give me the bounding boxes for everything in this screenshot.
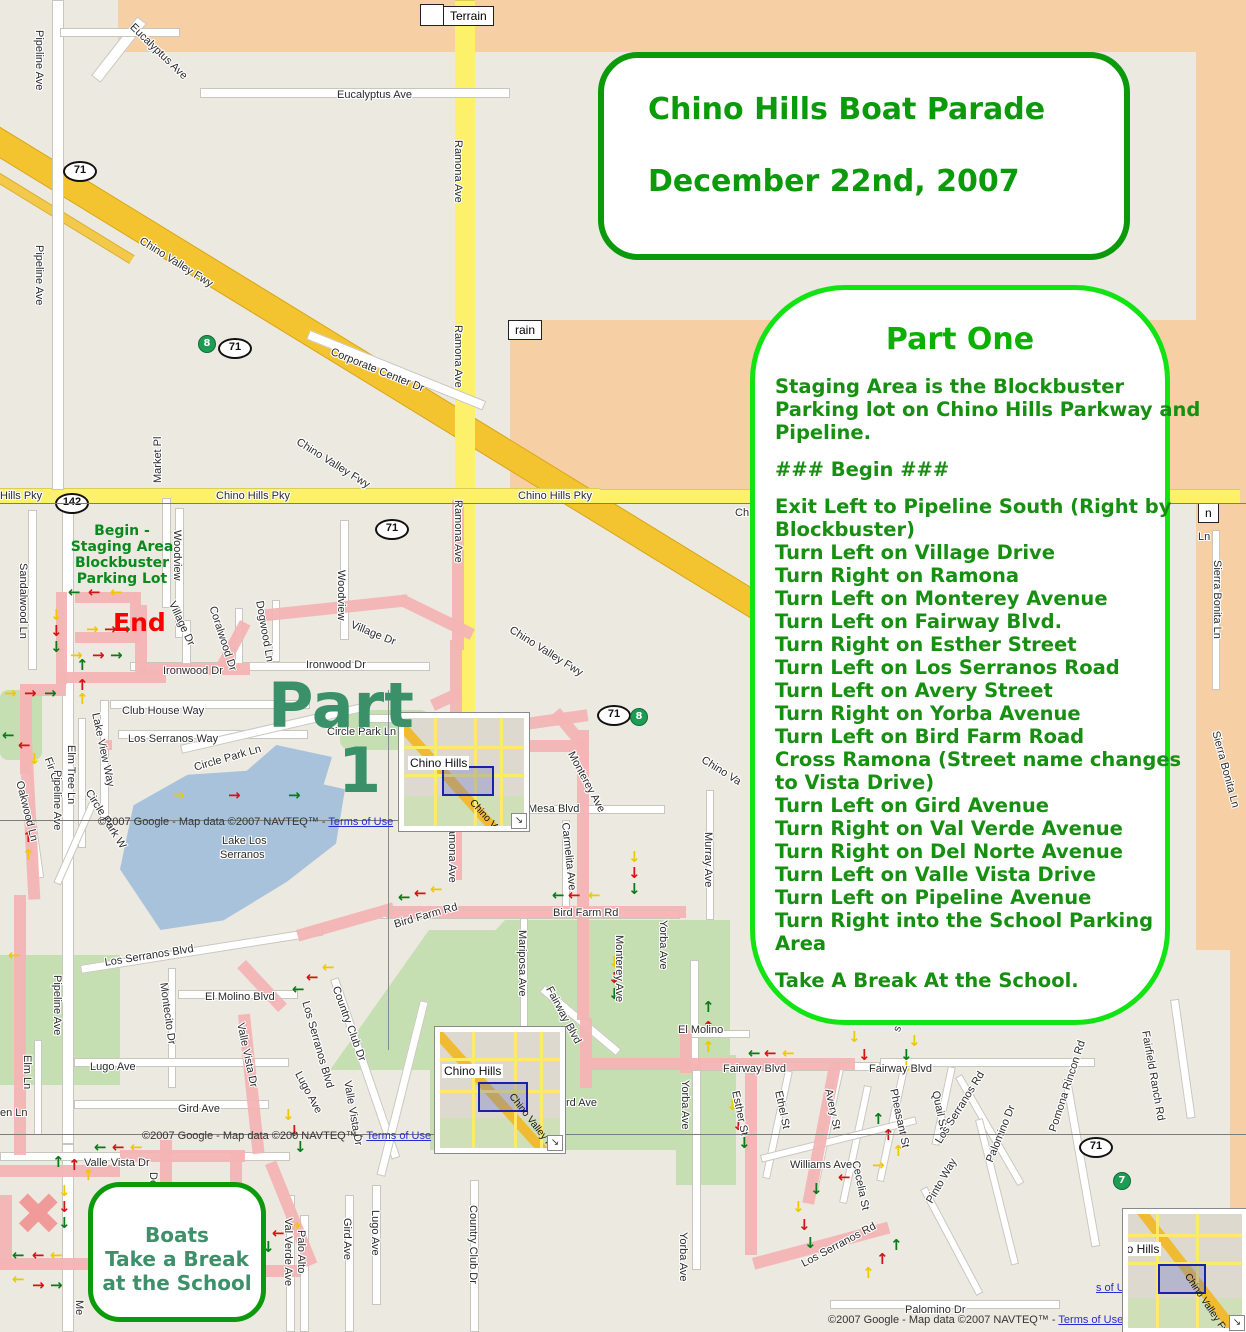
begin-note-line-1: Begin -	[62, 523, 182, 539]
label-monterey-ave-2: Monterey Ave	[613, 935, 624, 1002]
exit-marker-8-b: 8	[630, 708, 648, 726]
label-yorba-ave-1: Yorba Ave	[657, 920, 668, 970]
label-country-club-dr-2: Country Club Dr	[467, 1205, 478, 1284]
attribution-text-3: ©2007 Google - Map data ©2007 NAVTEQ™ -	[828, 1314, 1058, 1326]
road-pipeline-ave-top	[52, 0, 64, 490]
terms-of-use-link-1[interactable]: Terms of Use	[328, 816, 393, 828]
inset-map-3[interactable]: no Hills Chino Valley Fwy ↘	[1122, 1208, 1246, 1332]
part-one-intro: Staging Area is the Blockbuster Parking …	[775, 375, 1207, 444]
title-card: Chino Hills Boat Parade December 22nd, 2…	[598, 52, 1130, 260]
attribution-text-2: ©2007 Google - Map data ©200 NAVTEQ™ -	[142, 1130, 366, 1142]
label-elm-ln-1: Elm Ln	[21, 1055, 32, 1089]
direction-step: Turn Right on Del Norte Avenue	[775, 840, 1207, 863]
road-sandalwood-ln	[28, 510, 37, 670]
direction-step: Turn Left on Valle Vista Drive	[775, 863, 1207, 886]
direction-step: Turn Right on Esther Street	[775, 633, 1207, 656]
inset-map-2-label: Chino Hills	[442, 1064, 503, 1078]
inset-map-2[interactable]: Chino Hills Chino Valley Fwy ↘	[434, 1026, 566, 1154]
label-los-serranos-way: Los Serranos Way	[128, 734, 218, 745]
inset-map-2-resize-handle[interactable]: ↘	[547, 1135, 563, 1151]
part-one-directions-list: Exit Left to Pipeline South (Right by Bl…	[775, 495, 1207, 955]
road-gird-ave-s	[345, 1195, 354, 1332]
inset-map-1[interactable]: Chino Hills Chino Valley ↘	[398, 712, 530, 832]
begin-note-line-3: Blockbuster	[62, 555, 182, 571]
begin-staging-area-note: Begin - Staging Area Blockbuster Parking…	[62, 523, 182, 587]
road-ramona-ave-north	[455, 0, 475, 500]
direction-step: Turn Right on Yorba Avenue	[775, 702, 1207, 725]
label-val-verde-ave: Val Verde Ave	[282, 1218, 293, 1286]
label-lugo-ave-3: Lugo Ave	[369, 1210, 380, 1256]
label-ironwood-dr-1: Ironwood Dr	[163, 666, 223, 677]
label-pipeline-ave-n1: Pipeline Ave	[33, 30, 44, 90]
begin-note-line-2: Staging Area	[62, 539, 182, 555]
part-one-closing: Take A Break At the School.	[775, 969, 1207, 992]
label-mesa-blvd: Mesa Blvd	[528, 804, 579, 815]
label-murray-ave: Murray Ave	[702, 832, 713, 887]
label-lake-serranos: Serranos	[220, 850, 265, 861]
label-club-house-way: Club House Way	[122, 706, 204, 717]
school-card-line-1: Boats	[93, 1223, 261, 1247]
label-sierra-bonita-ln-1: Sierra Bonita Ln	[1211, 560, 1222, 639]
terrain-button-mid: rain	[508, 320, 542, 340]
direction-step: Turn Left on Los Serranos Road	[775, 656, 1207, 679]
route-seg-yorba	[680, 1058, 692, 1073]
label-eucalyptus-ave-e: Eucalyptus Ave	[337, 90, 412, 101]
label-chino-hills-pky-w: Hills Pky	[0, 491, 42, 502]
school-card-line-2: Take a Break	[93, 1247, 261, 1271]
inset-map-3-label: no Hills	[1128, 1242, 1161, 1256]
school-card-line-3: at the School	[93, 1271, 261, 1295]
tile-seam-v	[388, 690, 389, 1050]
route-seg-fairway-1	[585, 1058, 745, 1070]
terrain-button-partial[interactable]	[420, 4, 444, 26]
direction-step: Turn Left on Village Drive	[775, 541, 1207, 564]
route-x-marker: ✖	[14, 1192, 63, 1236]
label-fairway-blvd-1: Fairway Blvd	[723, 1064, 786, 1075]
label-lake-los: Lake Los	[222, 836, 267, 847]
road-top-cross	[60, 28, 180, 37]
road-yorba-ave-s	[692, 1070, 701, 1270]
direction-step: Turn Right on Val Verde Avenue	[775, 817, 1207, 840]
label-gird-ave-2: Gird Ave	[341, 1218, 352, 1260]
direction-step: Cross Ramona (Street name changes to Vis…	[775, 748, 1207, 794]
direction-step: Turn Right on Ramona	[775, 564, 1207, 587]
direction-step: Turn Left on Fairway Blvd.	[775, 610, 1207, 633]
road-gird-ave-w	[74, 1100, 269, 1109]
label-pipeline-ave-n2: Pipeline Ave	[33, 245, 44, 305]
direction-step: Turn Left on Pipeline Avenue	[775, 886, 1207, 909]
exit-marker-8-a: 8	[198, 335, 216, 353]
direction-step: Turn Left on Gird Avenue	[775, 794, 1207, 817]
attribution-3: ©2007 Google - Map data ©2007 NAVTEQ™ - …	[828, 1314, 1123, 1326]
label-ramona-ave-n1: Ramona Ave	[452, 140, 463, 203]
label-pipeline-ave-m: Pipeline Ave	[51, 770, 62, 830]
part-one-card: Part One Staging Area is the Blockbuster…	[750, 285, 1170, 1025]
label-chino-hills-pky-e: Chino Hills Pky	[518, 491, 592, 502]
label-fairway-blvd-2: Fairway Blvd	[869, 1064, 932, 1075]
label-mesa: Me	[73, 1300, 84, 1315]
part-1-watermark-line2: 1	[338, 740, 381, 802]
highway-shield-71-a: 71	[63, 161, 97, 182]
direction-step: Turn Left on Avery Street	[775, 679, 1207, 702]
direction-step: Turn Left on Monterey Avenue	[775, 587, 1207, 610]
label-pipeline-ave-s: Pipeline Ave	[51, 975, 62, 1035]
label-ramona-ave-m: Ramona Ave	[452, 500, 463, 563]
school-break-card: Boats Take a Break at the School	[88, 1182, 266, 1322]
end-note: End	[113, 608, 166, 637]
direction-step: Turn Right into the School Parking Area	[775, 909, 1207, 955]
label-elm-ln-2: en Ln	[0, 1108, 28, 1119]
label-mariposa-ave: Mariposa Ave	[516, 930, 527, 996]
label-williams-ave: Williams Ave	[790, 1160, 852, 1171]
route-seg-esther	[745, 1060, 757, 1255]
label-gird-ave-1: Gird Ave	[178, 1104, 220, 1115]
highway-shield-71-b: 71	[218, 338, 252, 359]
attribution-2: ©2007 Google - Map data ©200 NAVTEQ™ - T…	[142, 1130, 431, 1142]
title-line-1: Chino Hills Boat Parade	[648, 92, 1045, 127]
terrain-button-top: Terrain	[443, 6, 494, 26]
label-el-molino: El Molino	[678, 1025, 723, 1036]
part-one-begin-marker: ### Begin ###	[775, 458, 1207, 481]
label-sandalwood-ln: Sandalwood Ln	[17, 563, 28, 639]
direction-step: Turn Left on Bird Farm Road	[775, 725, 1207, 748]
inset-map-1-label: Chino Hills	[408, 756, 469, 770]
direction-step: Exit Left to Pipeline South (Right by Bl…	[775, 495, 1207, 541]
road-elm-ln	[34, 1040, 42, 1135]
label-woodview-2: Woodview	[335, 570, 346, 621]
title-line-2: December 22nd, 2007	[648, 164, 1020, 199]
label-yorba-ave-2: Yorba Ave	[679, 1080, 690, 1130]
terms-of-use-link-3[interactable]: Terms of Use	[1058, 1314, 1123, 1326]
label-yorba-ave-3: Yorba Ave	[677, 1232, 688, 1282]
label-valle-vista-dr-1: Valle Vista Dr	[84, 1158, 150, 1169]
road-chino-hills-pky	[0, 488, 600, 504]
route-seg-monterey-lower	[580, 1018, 592, 1088]
label-market-pl: Market Pl	[153, 437, 164, 483]
attribution-1: ©2007 Google - Map data ©2007 NAVTEQ™ - …	[98, 816, 393, 828]
label-ramona-ave-n2: Ramona Ave	[452, 325, 463, 388]
label-el-molino-blvd: El Molino Blvd	[205, 992, 275, 1003]
begin-note-line-4: Parking Lot	[62, 571, 182, 587]
label-palo-alto: Palo Alto	[295, 1230, 306, 1273]
highway-shield-71-e: 71	[1079, 1137, 1113, 1158]
map-page: ← ← ← ↓ ↓ ↓ → → → → → → ↑ ↑ ↑ → → → ← ← …	[0, 0, 1246, 1332]
inset-map-1-viewport-box	[442, 766, 494, 796]
highway-shield-71-c: 71	[375, 519, 409, 540]
inset-map-3-canvas: no Hills Chino Valley Fwy	[1128, 1214, 1242, 1328]
label-lugo-ave-1: Lugo Ave	[90, 1062, 136, 1073]
inset-map-1-canvas: Chino Hills Chino Valley	[404, 718, 524, 826]
attribution-text: ©2007 Google - Map data ©2007 NAVTEQ™ -	[98, 816, 328, 828]
label-bird-farm-rd-2: Bird Farm Rd	[553, 908, 618, 919]
terms-of-use-link-2[interactable]: Terms of Use	[366, 1130, 431, 1142]
part-one-heading: Part One	[755, 322, 1165, 357]
part-1-watermark-line1: Part	[268, 675, 414, 737]
label-chino-hills-pky-e2: Ch	[735, 508, 749, 519]
part-one-body: Staging Area is the Blockbuster Parking …	[775, 375, 1207, 992]
inset-map-1-resize-handle[interactable]: ↘	[511, 813, 527, 829]
label-elm-tree-ln: Elm Tree Ln	[65, 745, 76, 804]
exit-marker-7: 7	[1113, 1172, 1131, 1190]
inset-map-3-resize-handle[interactable]: ↘	[1229, 1315, 1245, 1331]
highway-shield-71-d: 71	[597, 705, 631, 726]
label-chino-hills-pky-c: Chino Hills Pky	[216, 491, 290, 502]
inset-map-2-canvas: Chino Hills Chino Valley Fwy	[440, 1032, 560, 1148]
